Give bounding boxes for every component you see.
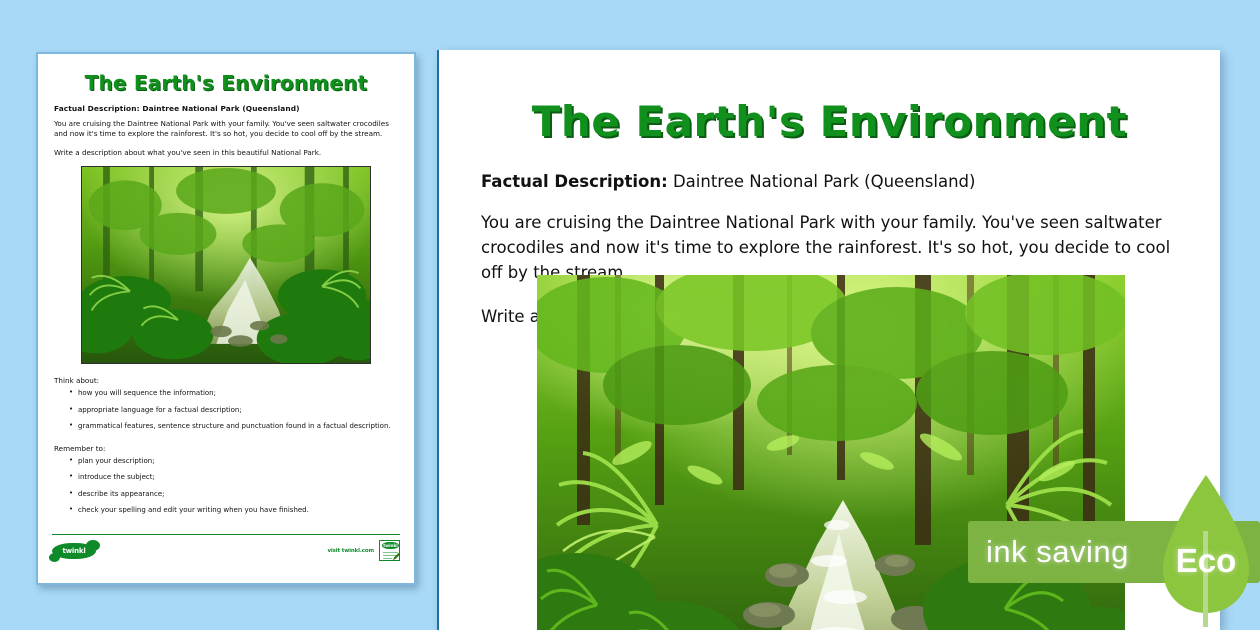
thumbnail-remember-to-heading: Remember to:	[54, 444, 400, 453]
thumbnail-paragraph-1: You are cruising the Daintree National P…	[54, 119, 400, 140]
twinkl-certificate-badge-icon: twinkl	[379, 540, 400, 561]
eco-leaf-icon: Eco	[1151, 469, 1260, 630]
list-item: how you will sequence the information;	[78, 389, 400, 398]
list-item: appropriate language for a factual descr…	[78, 406, 400, 415]
document-subtitle-label: Factual Description:	[481, 172, 668, 191]
thumbnail-subtitle: Factual Description: Daintree National P…	[54, 104, 400, 113]
thumbnail-think-about-heading: Think about:	[54, 376, 400, 385]
thumbnail-remember-to-list: plan your description; introduce the sub…	[52, 457, 400, 516]
list-item: check your spelling and edit your writin…	[78, 506, 400, 515]
twinkl-logo-label: twinkl	[62, 547, 85, 555]
list-item: plan your description;	[78, 457, 400, 466]
rainforest-illustration	[82, 167, 370, 363]
thumbnail-subtitle-label: Factual Description:	[54, 104, 140, 113]
thumbnail-footer: twinkl visit twinkl.com twinkl	[52, 534, 400, 561]
list-item: describe its appearance;	[78, 490, 400, 499]
page-title: The Earth's Environment	[475, 97, 1184, 146]
document-thumbnail-preview[interactable]: The Earth's Environment Factual Descript…	[36, 52, 416, 585]
certificate-badge-label: twinkl	[382, 542, 399, 549]
document-subtitle-value: Daintree National Park (Queensland)	[673, 172, 976, 191]
thumbnail-subtitle-value: Daintree National Park (Queensland)	[142, 104, 299, 113]
pencil-icon	[392, 552, 400, 561]
document-subtitle: Factual Description: Daintree National P…	[481, 172, 1184, 191]
thumbnail-rainforest-image	[81, 166, 371, 364]
list-item: introduce the subject;	[78, 473, 400, 482]
eco-label: Eco	[1151, 469, 1260, 630]
ink-saving-label: ink saving	[986, 534, 1129, 570]
list-item: grammatical features, sentence structure…	[78, 422, 400, 431]
footer-right-group: visit twinkl.com twinkl	[327, 540, 400, 561]
certificate-line	[383, 558, 392, 559]
twinkl-logo: twinkl	[52, 543, 96, 559]
thumbnail-paragraph-2: Write a description about what you've se…	[54, 148, 400, 158]
thumbnail-page-title: The Earth's Environment	[52, 71, 400, 95]
thumbnail-think-about-list: how you will sequence the information; a…	[52, 389, 400, 431]
visit-twinkl-link[interactable]: visit twinkl.com	[327, 548, 374, 554]
